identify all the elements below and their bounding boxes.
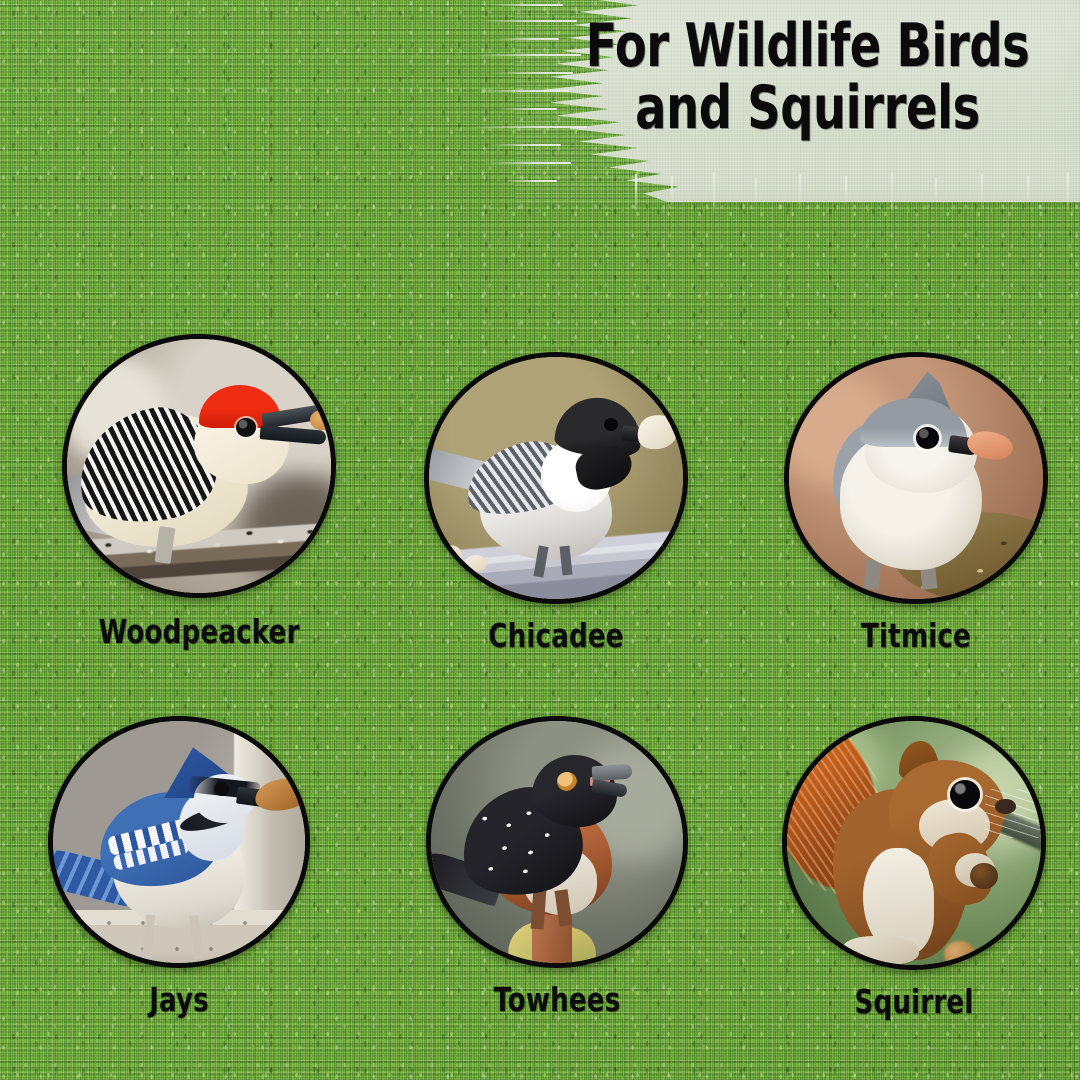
caption-woodpecker: Woodpeacker — [78, 612, 319, 651]
chickadee-photo[interactable] — [424, 352, 688, 604]
titmouse-illustration — [789, 357, 1043, 599]
jay-photo[interactable] — [48, 716, 310, 968]
caption-titmouse: Titmice — [800, 616, 1032, 655]
titmouse-photo[interactable] — [784, 352, 1048, 604]
chickadee-illustration — [429, 357, 683, 599]
caption-jay: Jays — [64, 980, 295, 1019]
species-gallery: Woodpeacker Chicadee — [0, 0, 1080, 1080]
product-infographic: For Wildlife Birds and Squirrels Woodpea… — [0, 0, 1080, 1080]
towhee-photo[interactable] — [426, 716, 688, 968]
squirrel-photo[interactable] — [782, 716, 1046, 970]
caption-squirrel: Squirrel — [798, 982, 1030, 1021]
caption-towhee: Towhees — [442, 980, 673, 1019]
caption-chickadee: Chicadee — [440, 616, 672, 655]
towhee-illustration — [431, 721, 683, 963]
woodpecker-illustration — [67, 339, 331, 593]
woodpecker-photo[interactable] — [62, 334, 336, 598]
squirrel-illustration — [787, 721, 1041, 965]
jay-illustration — [53, 721, 305, 963]
